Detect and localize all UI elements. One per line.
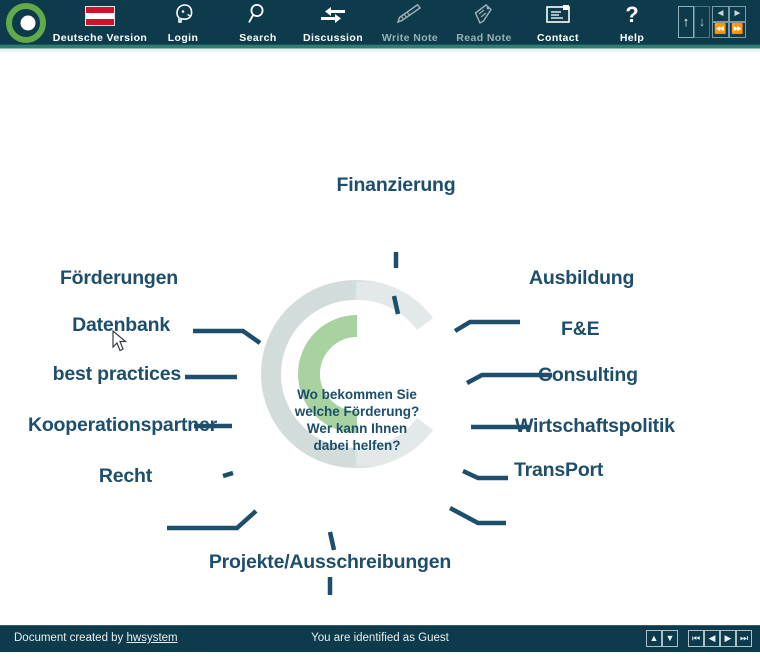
- node-label-datenbank[interactable]: Datenbank: [0, 314, 170, 337]
- status-page-group: ⏮ ◀ ▶ ⏭: [688, 630, 752, 647]
- status-bar: Document created by hwsystem You are ide…: [0, 625, 760, 652]
- spoke-ausbildung: [455, 322, 520, 331]
- nav-first-button[interactable]: ⏪: [712, 22, 729, 38]
- status-scroll-down-button[interactable]: ▼: [662, 630, 678, 647]
- node-label-transport[interactable]: TransPort: [514, 459, 603, 482]
- spoke-recht: [167, 511, 256, 528]
- envelope-icon: [522, 2, 594, 28]
- toolbar-item-search[interactable]: Search: [224, 2, 292, 44]
- austrian-flag-icon: [52, 2, 148, 28]
- toolbar-item-contact[interactable]: Contact: [522, 2, 594, 44]
- diagram-graphics: [0, 52, 760, 622]
- toolbar-item-read-note[interactable]: Read Note: [448, 2, 520, 44]
- node-label-finanzierung[interactable]: Finanzierung: [296, 174, 496, 197]
- node-label-projekte-ausschreibungen[interactable]: Projekte/Ausschreibungen: [130, 551, 530, 574]
- page-updown-nav: ↑ ↓: [678, 6, 710, 38]
- page-up-button[interactable]: ↑: [678, 6, 694, 38]
- node-label-foerderungen[interactable]: Förderungen: [0, 267, 178, 290]
- spoke-kooperationspartner: [223, 473, 233, 476]
- spoke-projekte-inner: [330, 532, 334, 550]
- top-toolbar: Deutsche Version Login Search: [0, 0, 760, 44]
- face-profile-icon: [150, 2, 216, 28]
- note-tag-icon: [448, 2, 520, 28]
- arrows-exchange-icon: [294, 2, 372, 28]
- pencil-icon: [374, 2, 446, 28]
- window-bottom-edge: [0, 652, 760, 658]
- node-label-recht[interactable]: Recht: [0, 465, 152, 488]
- nav-last-button[interactable]: ⏩: [729, 22, 746, 38]
- node-label-ausbildung[interactable]: Ausbildung: [529, 267, 634, 290]
- spoke-foerderungen: [193, 331, 260, 343]
- page-root: Deutsche Version Login Search: [0, 0, 760, 658]
- toolbar-item-login[interactable]: Login: [150, 2, 216, 44]
- status-first-button[interactable]: ⏮: [688, 630, 704, 647]
- node-label-best-practices[interactable]: best practices: [0, 363, 181, 386]
- node-label-consulting[interactable]: Consulting: [538, 364, 638, 387]
- toolbar-item-discussion[interactable]: Discussion: [294, 2, 372, 44]
- hwsystem-ring-logo-icon[interactable]: [6, 3, 46, 43]
- logo-svg: [6, 3, 46, 43]
- spoke-transport: [450, 508, 506, 523]
- page-quad-nav: ◄ ► ⏪ ⏩: [712, 6, 746, 38]
- status-scroll-group: ▲ ▼: [646, 630, 678, 647]
- status-bar-nav: ▲ ▼ ⏮ ◀ ▶ ⏭: [646, 630, 752, 647]
- status-prev-button[interactable]: ◀: [704, 630, 720, 647]
- nav-next-button[interactable]: ►: [729, 6, 746, 22]
- toolbar-item-help[interactable]: ? Help: [600, 2, 664, 44]
- node-label-kooperationspartner[interactable]: Kooperationspartner: [0, 414, 217, 437]
- svg-text:?: ?: [625, 2, 638, 26]
- question-mark-icon: ?: [600, 2, 664, 28]
- toolbar-item-deutsche-version[interactable]: Deutsche Version: [52, 2, 148, 44]
- page-down-button[interactable]: ↓: [694, 6, 710, 38]
- status-next-button[interactable]: ▶: [720, 630, 736, 647]
- node-label-wirtschaftspolitik[interactable]: Wirtschaftspolitik: [515, 415, 675, 438]
- status-scroll-up-button[interactable]: ▲: [646, 630, 662, 647]
- status-last-button[interactable]: ⏭: [736, 630, 752, 647]
- nav-prev-button[interactable]: ◄: [712, 6, 729, 22]
- magnifier-icon: [224, 2, 292, 28]
- diagram-canvas: Finanzierung Förderungen Datenbank best …: [0, 52, 760, 622]
- toolbar-item-write-note[interactable]: Write Note: [374, 2, 446, 44]
- node-label-fue[interactable]: F&E: [561, 318, 599, 341]
- watermark-logo: [271, 282, 443, 466]
- spoke-wirtschaftspolitik: [463, 471, 508, 478]
